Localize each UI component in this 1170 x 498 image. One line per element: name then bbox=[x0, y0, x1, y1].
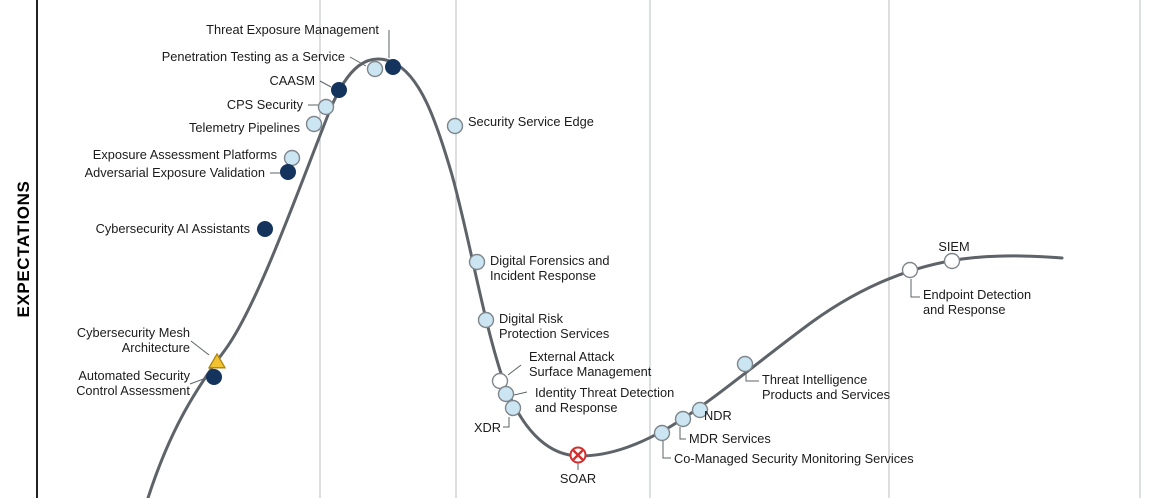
leader-line-identity-threat-detection-and-response bbox=[514, 392, 527, 395]
label-threat-exposure-management: Threat Exposure Management bbox=[89, 23, 379, 38]
marker-penetration-testing-as-a-service[interactable] bbox=[368, 62, 383, 77]
label-ndr: NDR bbox=[704, 409, 764, 424]
marker-cybersecurity-mesh-architecture[interactable] bbox=[209, 354, 225, 368]
marker-digital-forensics-and-incident-response[interactable] bbox=[470, 255, 485, 270]
label-adversarial-exposure-validation: Adversarial Exposure Validation bbox=[15, 166, 265, 181]
label-co-managed-security-monitoring-services: Co-Managed Security Monitoring Services bbox=[674, 452, 924, 467]
label-digital-risk-protection-services: Digital Risk Protection Services bbox=[499, 312, 719, 341]
label-digital-forensics-and-incident-response: Digital Forensics and Incident Response bbox=[490, 254, 710, 283]
label-external-attack-surface-management: External Attack Surface Management bbox=[529, 350, 759, 379]
label-cps-security: CPS Security bbox=[113, 98, 303, 113]
leader-line-cybersecurity-mesh-architecture bbox=[191, 341, 209, 355]
hype-cycle-chart: EXPECTATIONS Threat Exposure ManagementP… bbox=[0, 0, 1170, 498]
marker-threat-exposure-management[interactable] bbox=[386, 60, 401, 75]
marker-identity-threat-detection-and-response[interactable] bbox=[499, 387, 514, 402]
marker-automated-security-control-assessment[interactable] bbox=[207, 370, 222, 385]
label-endpoint-detection-and-response: Endpoint Detection and Response bbox=[923, 288, 1143, 317]
marker-endpoint-detection-and-response[interactable] bbox=[903, 263, 918, 278]
marker-digital-risk-protection-services[interactable] bbox=[479, 313, 494, 328]
label-cybersecurity-ai-assistants: Cybersecurity AI Assistants bbox=[10, 222, 250, 237]
marker-cps-security[interactable] bbox=[319, 100, 334, 115]
y-axis-title-wrap: EXPECTATIONS bbox=[0, 0, 40, 498]
leader-line-co-managed-security-monitoring-services bbox=[663, 441, 671, 458]
label-xdr: XDR bbox=[474, 421, 534, 436]
marker-security-service-edge[interactable] bbox=[448, 119, 463, 134]
label-automated-security-control-assessment: Automated Security Control Assessment bbox=[10, 369, 190, 398]
marker-soar[interactable] bbox=[571, 448, 586, 463]
marker-caasm[interactable] bbox=[332, 83, 347, 98]
label-cybersecurity-mesh-architecture: Cybersecurity Mesh Architecture bbox=[10, 326, 190, 355]
label-mdr-services: MDR Services bbox=[689, 432, 809, 447]
marker-xdr[interactable] bbox=[506, 401, 521, 416]
label-threat-intelligence-products-and-services: Threat Intelligence Products and Service… bbox=[762, 373, 982, 402]
marker-telemetry-pipelines[interactable] bbox=[307, 117, 322, 132]
label-telemetry-pipelines: Telemetry Pipelines bbox=[90, 121, 300, 136]
marker-co-managed-security-monitoring-services[interactable] bbox=[655, 426, 670, 441]
label-siem: SIEM bbox=[932, 240, 976, 255]
leader-line-caasm bbox=[320, 81, 331, 87]
marker-exposure-assessment-platforms[interactable] bbox=[285, 151, 300, 166]
label-security-service-edge: Security Service Edge bbox=[468, 115, 688, 130]
leader-line-mdr-services bbox=[680, 427, 686, 439]
leader-line-endpoint-detection-and-response bbox=[911, 279, 920, 297]
label-penetration-testing-as-a-service: Penetration Testing as a Service bbox=[75, 50, 345, 65]
leader-line-external-attack-surface-management bbox=[508, 365, 521, 375]
label-caasm: CAASM bbox=[135, 74, 315, 89]
marker-siem[interactable] bbox=[945, 254, 960, 269]
marker-adversarial-exposure-validation[interactable] bbox=[281, 165, 296, 180]
label-soar: SOAR bbox=[556, 472, 600, 487]
marker-cybersecurity-ai-assistants[interactable] bbox=[258, 222, 273, 237]
label-exposure-assessment-platforms: Exposure Assessment Platforms bbox=[7, 148, 277, 163]
